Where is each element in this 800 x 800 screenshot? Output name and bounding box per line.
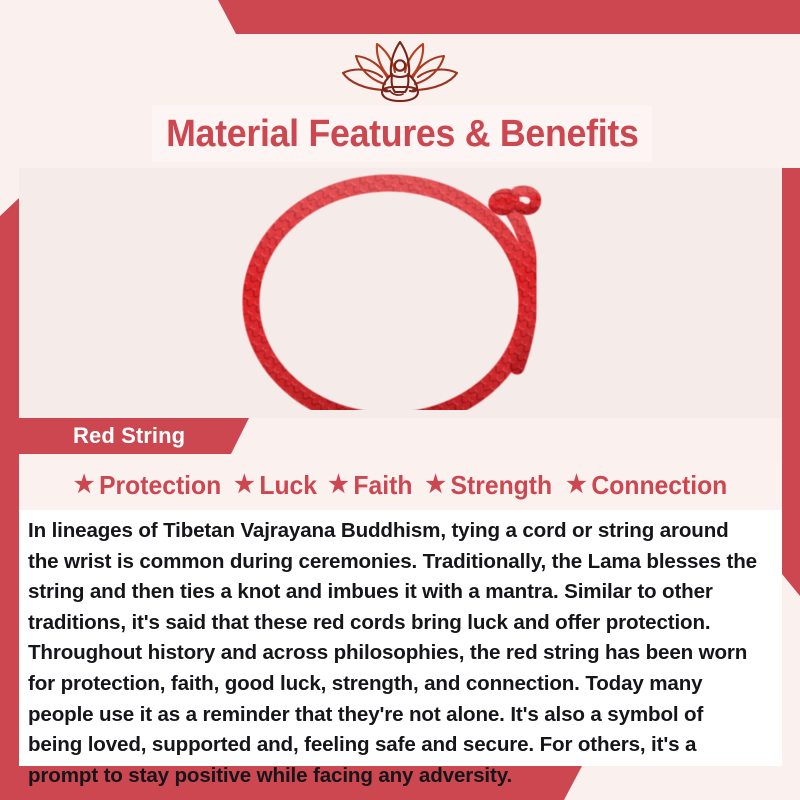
brand-logo [0,34,800,106]
decor-left-red-strip [0,198,19,768]
feature-item-connection: ★ Connection [566,470,727,501]
description-block: In lineages of Tibetan Vajrayana Buddhis… [19,510,782,766]
feature-item-strength: ★ Strength [425,470,552,501]
feature-label: Faith [353,470,412,501]
feature-list: ★ Protection ★ Luck ★ Faith ★ Strength ★… [19,460,782,510]
product-image-stage [19,168,782,418]
star-icon: ★ [425,473,445,497]
feature-label: Connection [591,470,727,501]
feature-item-faith: ★ Faith [328,470,412,501]
page-title-band: Material Features & Benefits [152,106,652,162]
star-icon: ★ [328,473,348,497]
infographic-page: BUDDHA STONES Material Features & Benefi… [0,0,800,800]
feature-label: Luck [259,470,317,501]
label-underband [19,454,782,458]
star-icon: ★ [566,473,586,497]
page-title: Material Features & Benefits [166,113,638,156]
feature-item-luck: ★ Luck [234,470,317,501]
star-icon: ★ [73,473,93,497]
product-label-banner: Red String [19,418,249,454]
description-text: In lineages of Tibetan Vajrayana Buddhis… [28,516,760,791]
feature-item-protection: ★ Protection [73,470,220,501]
feature-label: Strength [450,470,552,501]
feature-label: Protection [99,470,221,501]
label-spacer [19,410,782,418]
star-icon: ★ [234,473,254,497]
lotus-meditation-icon [325,34,475,106]
decor-top-red-band [0,0,800,34]
product-label: Red String [73,423,185,449]
red-braided-string-bracelet-image [191,168,611,418]
